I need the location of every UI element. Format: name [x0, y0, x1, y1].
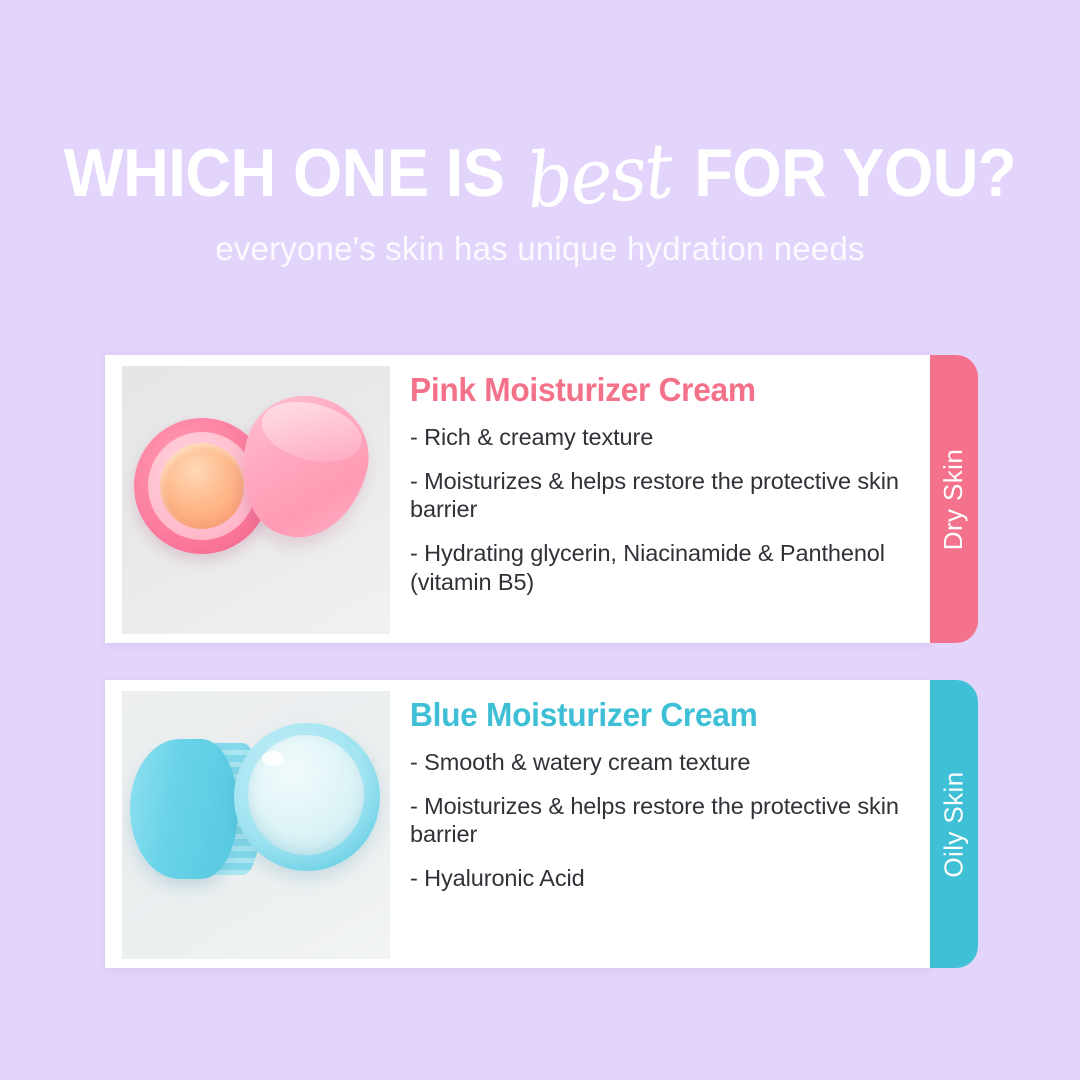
blue-card-text: Blue Moisturizer Cream - Smooth & watery… — [390, 680, 930, 893]
blue-product-title: Blue Moisturizer Cream — [410, 696, 884, 734]
page-headline: WHICH ONE IS best FOR YOU? — [38, 0, 1042, 208]
page-subtitle: everyone's skin has unique hydration nee… — [0, 208, 1080, 268]
list-item: - Smooth & watery cream texture — [410, 748, 904, 777]
list-item: - Moisturizes & helps restore the protec… — [410, 467, 904, 524]
skin-type-tab-oily[interactable]: Oily Skin — [930, 680, 978, 968]
list-item: - Hyaluronic Acid — [410, 864, 904, 893]
blue-gel-icon — [248, 735, 364, 855]
blue-jar-lid-icon — [130, 739, 238, 879]
pink-jar-photo — [122, 366, 390, 634]
headline-text-after: FOR YOU? — [694, 135, 1016, 211]
list-item: - Hydrating glycerin, Niacinamide & Pant… — [410, 539, 904, 596]
skin-type-tab-label: Oily Skin — [939, 771, 970, 877]
header: WHICH ONE IS best FOR YOU? everyone's sk… — [0, 0, 1080, 268]
pink-jar-rim-icon — [148, 432, 256, 540]
blue-jar-base-icon — [234, 723, 380, 871]
list-item: - Moisturizes & helps restore the protec… — [410, 792, 904, 849]
pink-card-text: Pink Moisturizer Cream - Rich & creamy t… — [390, 355, 930, 596]
product-card-pink[interactable]: Pink Moisturizer Cream - Rich & creamy t… — [105, 355, 930, 643]
product-card-blue[interactable]: Blue Moisturizer Cream - Smooth & watery… — [105, 680, 930, 968]
blue-jar-photo — [122, 691, 390, 959]
headline-script-word: best — [519, 132, 679, 219]
pink-product-title: Pink Moisturizer Cream — [410, 371, 884, 409]
headline-text-before: WHICH ONE IS — [64, 135, 505, 211]
blue-feature-list: - Smooth & watery cream texture - Moistu… — [410, 748, 904, 893]
skin-type-tab-label: Dry Skin — [939, 448, 970, 549]
pink-feature-list: - Rich & creamy texture - Moisturizes & … — [410, 423, 904, 596]
skin-type-tab-dry[interactable]: Dry Skin — [930, 355, 978, 643]
pink-cream-icon — [160, 443, 244, 529]
list-item: - Rich & creamy texture — [410, 423, 904, 452]
